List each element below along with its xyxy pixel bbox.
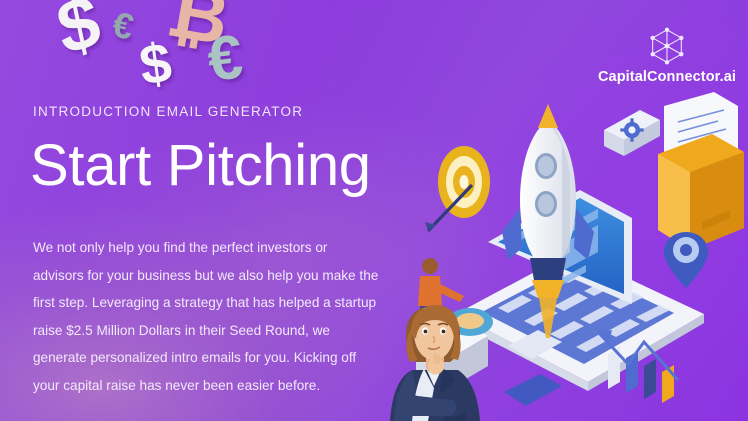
- euro-symbol-large: €: [205, 26, 246, 91]
- brand-logo[interactable]: CapitalConnector.ai: [600, 26, 734, 85]
- hero-kicker: INTRODUCTION EMAIL GENERATOR: [33, 104, 393, 119]
- network-nodes-icon: [646, 26, 688, 66]
- page-title: Start Pitching: [30, 135, 393, 196]
- hero-banner: $ € ₿ $ € CapitalConnector.ai INTRODUCTI…: [0, 0, 748, 421]
- hero-body-text: We not only help you find the perfect in…: [33, 234, 381, 399]
- hero-copy: INTRODUCTION EMAIL GENERATOR Start Pitch…: [33, 104, 393, 399]
- brand-name: CapitalConnector.ai: [598, 69, 736, 85]
